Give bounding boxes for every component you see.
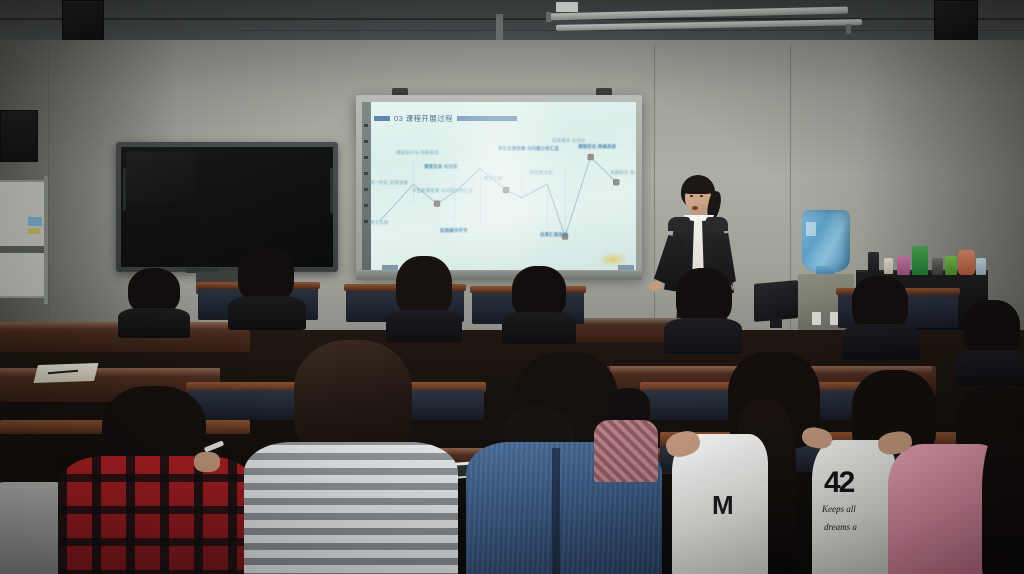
title-accent-bar-left xyxy=(374,116,390,121)
notice-board-edge xyxy=(44,176,48,304)
student-torso xyxy=(502,312,576,344)
slide-title: 03 课程开展过程 xyxy=(394,113,453,124)
student-front-7-pink xyxy=(886,400,1024,574)
student-hair xyxy=(396,256,452,316)
podium-monitor[interactable] xyxy=(754,280,798,322)
chart-label-1: 课程设计与 内容规划 xyxy=(396,150,439,156)
student-torso xyxy=(118,308,190,338)
presenter-eye-left xyxy=(690,195,693,197)
plaid-shirt xyxy=(58,456,254,574)
chart-label-5: 实践操作环节 xyxy=(440,228,468,234)
rail-dot-4 xyxy=(364,172,368,175)
notice-board-note-yellow xyxy=(28,228,40,234)
student-torso xyxy=(956,350,1024,386)
student-hair xyxy=(964,300,1020,356)
student-back-2 xyxy=(228,246,306,326)
wall-monitor-small xyxy=(0,110,38,162)
notice-board xyxy=(0,180,46,298)
bottle-pink xyxy=(897,256,910,275)
projector-mount-arm xyxy=(496,14,503,40)
student-back-6 xyxy=(842,276,920,356)
slide-surface: 03 课程开展过程 xyxy=(362,102,636,270)
hoodie-script-line-1: Keeps all xyxy=(822,504,880,513)
tv-side-keys-right xyxy=(330,168,333,214)
desk-sheen-mid-left xyxy=(0,368,220,376)
rail-dot-1 xyxy=(364,124,368,127)
chart-markers xyxy=(434,154,619,239)
bottle-green xyxy=(912,246,928,275)
student-torso xyxy=(386,310,462,342)
student-back-5 xyxy=(664,268,742,350)
bottle-lime xyxy=(945,256,957,275)
pen-in-hand xyxy=(204,440,224,452)
light-mount xyxy=(556,2,578,12)
presenter-hair-front xyxy=(683,179,713,194)
rail-dot-7 xyxy=(364,220,368,223)
classroom-scene: 03 课程开展过程 xyxy=(0,0,1024,574)
presenter-shoulder-right xyxy=(706,217,728,231)
student-hair xyxy=(512,266,566,318)
water-tap-cold[interactable] xyxy=(812,312,821,325)
slide-bottom-tab-right xyxy=(618,265,634,270)
bottle-lightblue xyxy=(976,258,986,275)
denim-seam xyxy=(552,448,560,574)
podium-monitor-stand xyxy=(770,318,782,328)
student-back-1 xyxy=(116,268,192,334)
student-front-4b xyxy=(594,388,658,480)
notice-board-strip xyxy=(0,246,46,253)
chart-label-12: 成果汇报总结 xyxy=(540,232,568,238)
student-torso xyxy=(228,296,306,330)
student-front-2-plaid xyxy=(54,386,254,574)
chart-label-8: 阶段性总结 xyxy=(530,170,553,176)
chart-label-2: 教学实施 xyxy=(370,220,388,226)
chart-label-7: 教学实施 xyxy=(484,176,502,182)
hoodie-number: 42 xyxy=(824,468,868,498)
wall-seam-1 xyxy=(48,44,49,340)
tv-screen-glare xyxy=(126,152,196,204)
striped-top xyxy=(244,442,458,574)
student-hair xyxy=(294,340,412,452)
student-hand xyxy=(194,452,220,472)
open-notebook xyxy=(33,363,98,383)
projection-screen[interactable]: 03 课程开展过程 xyxy=(356,95,642,277)
chart-label-0: 第一阶段 前期准备 xyxy=(370,180,408,186)
container-orange xyxy=(958,250,975,275)
notice-board-note-blue xyxy=(28,217,42,226)
presenter-shoulder-left xyxy=(668,217,690,231)
hoodie-script-line-2: dreams a xyxy=(824,522,882,531)
presenter-eye-right xyxy=(700,195,703,197)
water-bottle-label xyxy=(806,222,816,236)
ceiling-seam xyxy=(0,18,1024,20)
tube-endcap-left xyxy=(546,12,551,22)
student-back-4 xyxy=(500,266,578,340)
student-torso xyxy=(842,324,920,360)
slide-timeline-chart: 第一阶段 前期准备 课程设计与 内容规划 教学实施 课堂互动 与讨论 学生反馈收… xyxy=(372,128,632,254)
title-accent-bar-right xyxy=(457,116,517,121)
ceiling-seam-secondary xyxy=(240,30,1024,31)
screen-side-rail xyxy=(362,102,371,270)
chart-label-4: 学生反馈收集 与问题分析汇总 xyxy=(412,188,473,194)
chart-label-11: 专题研讨 深入交流环节 xyxy=(610,170,636,176)
student-back-3 xyxy=(384,256,464,336)
chart-label-6: 学生反馈收集 与问题分析汇总 xyxy=(498,146,559,152)
patterned-top xyxy=(594,420,658,482)
tube-endcap-right xyxy=(846,24,851,34)
slide-title-row: 03 课程开展过程 xyxy=(374,112,628,125)
student-hair xyxy=(238,246,294,302)
student-torso xyxy=(664,318,742,354)
hoodie-letter: M xyxy=(712,492,732,518)
student-front-3-striped xyxy=(240,340,458,574)
student-hair xyxy=(676,268,732,324)
student-back-7 xyxy=(956,300,1024,380)
student-hair xyxy=(852,276,908,330)
bottle-dark xyxy=(868,252,879,274)
chart-line xyxy=(380,157,616,236)
rail-dot-2 xyxy=(364,140,368,143)
tv-side-keys-left xyxy=(123,168,126,210)
chart-label-3: 课堂互动 与讨论 xyxy=(424,164,458,170)
rail-dot-5 xyxy=(364,188,368,191)
rail-dot-6 xyxy=(364,204,368,207)
water-bottle xyxy=(802,210,850,272)
presenter-hand-left xyxy=(647,279,663,292)
chart-label-10: 课程优化 持续改进 xyxy=(578,144,616,150)
bottle-grey xyxy=(932,258,943,275)
bottle-white xyxy=(884,258,893,274)
rail-dot-3 xyxy=(364,156,368,159)
student-long-hair xyxy=(982,430,1024,574)
